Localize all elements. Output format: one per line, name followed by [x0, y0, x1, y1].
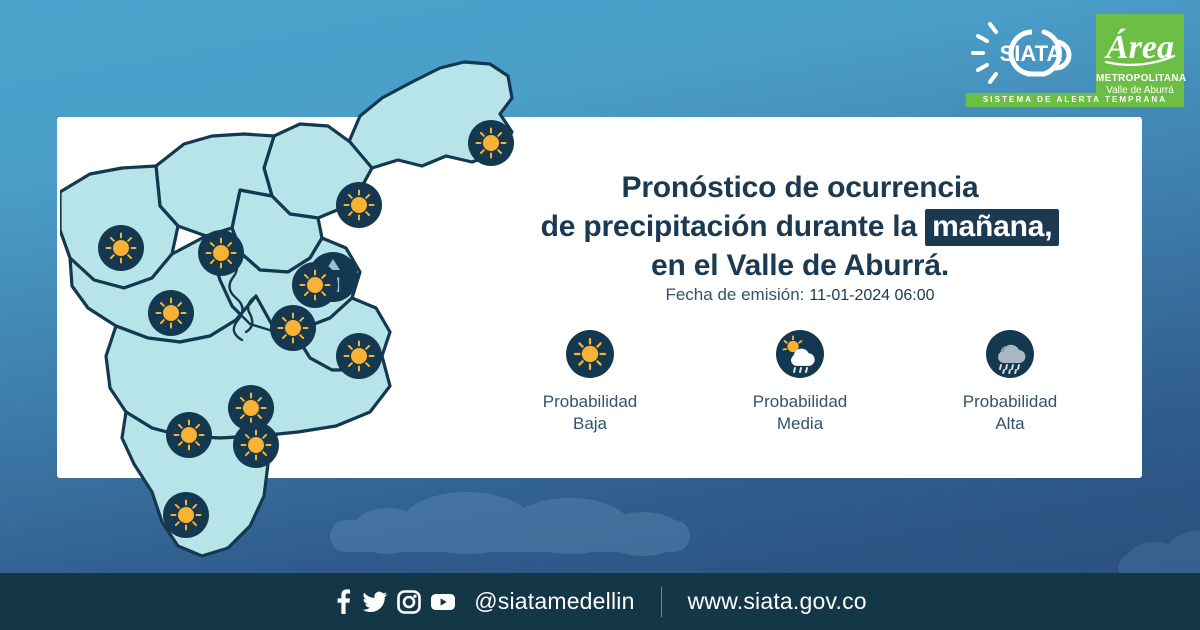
legend-baja-line2: Baja — [573, 414, 607, 433]
facebook-icon[interactable] — [333, 589, 353, 615]
footer-separator — [661, 587, 662, 617]
legend-label-alta: Probabilidad Alta — [920, 391, 1100, 435]
station-marker-san-pedro — [198, 230, 244, 276]
station-marker-bello-norte — [98, 225, 144, 271]
headline-line-1: Pronóstico de ocurrencia — [480, 168, 1120, 207]
legend-label-baja: Probabilidad Baja — [500, 391, 680, 435]
logo-group: SIATA Área METROPOLITANA Valle de Aburrá — [970, 14, 1184, 102]
station-marker-caldas — [163, 492, 209, 538]
siata-tagline: SISTEMA DE ALERTA TEMPRANA — [966, 93, 1184, 107]
headline-line-2: de precipitación durante la mañana, — [480, 207, 1120, 246]
legend-alta-line1: Probabilidad — [963, 392, 1058, 411]
legend-media-line2: Media — [777, 414, 823, 433]
page-title: Pronóstico de ocurrencia de precipitació… — [480, 168, 1120, 285]
headline-line-3: en el Valle de Aburrá. — [480, 246, 1120, 285]
station-marker-envigado — [336, 333, 382, 379]
legend-item-alta: Probabilidad Alta — [920, 330, 1100, 435]
am-metro-label: METROPOLITANA — [1096, 73, 1184, 84]
legend-media-line1: Probabilidad — [753, 392, 848, 411]
siata-sun-cloud-logo: SIATA — [970, 14, 1088, 92]
station-marker-medellin — [270, 305, 316, 351]
website-url[interactable]: www.siata.gov.co — [688, 588, 867, 615]
social-handle[interactable]: @siatamedellin — [474, 588, 634, 615]
siata-wordmark: SIATA — [1000, 41, 1063, 66]
youtube-icon[interactable] — [430, 592, 456, 612]
issue-date: Fecha de emisión:11-01-2024 06:00 — [480, 285, 1120, 305]
legend-alta-line2: Alta — [995, 414, 1024, 433]
station-marker-medellin-norte — [148, 290, 194, 336]
issue-date-label: Fecha de emisión: — [665, 285, 804, 304]
sun-icon — [566, 330, 614, 378]
social-icons — [333, 589, 456, 615]
sun-rain-cloud-icon — [776, 330, 824, 378]
legend-item-media: Probabilidad Media — [710, 330, 890, 435]
twitter-icon[interactable] — [362, 589, 388, 615]
infographic-root: N Pronóstico de ocurrencia de precipitac… — [0, 0, 1200, 630]
headline-highlight: mañana, — [925, 209, 1059, 246]
instagram-icon[interactable] — [397, 590, 421, 614]
issue-date-value: 11-01-2024 06:00 — [809, 287, 934, 304]
probability-legend: Probabilidad Baja — [500, 330, 1100, 435]
rain-cloud-icon — [986, 330, 1034, 378]
station-marker-copacabana — [292, 262, 338, 308]
station-marker-sabaneta — [166, 412, 212, 458]
legend-label-media: Probabilidad Media — [710, 391, 890, 435]
station-marker-barbosa — [468, 120, 514, 166]
area-metropolitana-logo: Área METROPOLITANA Valle de Aburrá — [1096, 14, 1184, 102]
legend-item-baja: Probabilidad Baja — [500, 330, 680, 435]
station-marker-la-estrella — [233, 422, 279, 468]
headline-line-2-text: de precipitación durante la — [541, 210, 926, 243]
station-marker-girardota — [336, 182, 382, 228]
valle-de-aburra-map: N — [60, 40, 530, 580]
footer-bar: @siatamedellin www.siata.gov.co — [0, 573, 1200, 630]
legend-baja-line1: Probabilidad — [543, 392, 638, 411]
